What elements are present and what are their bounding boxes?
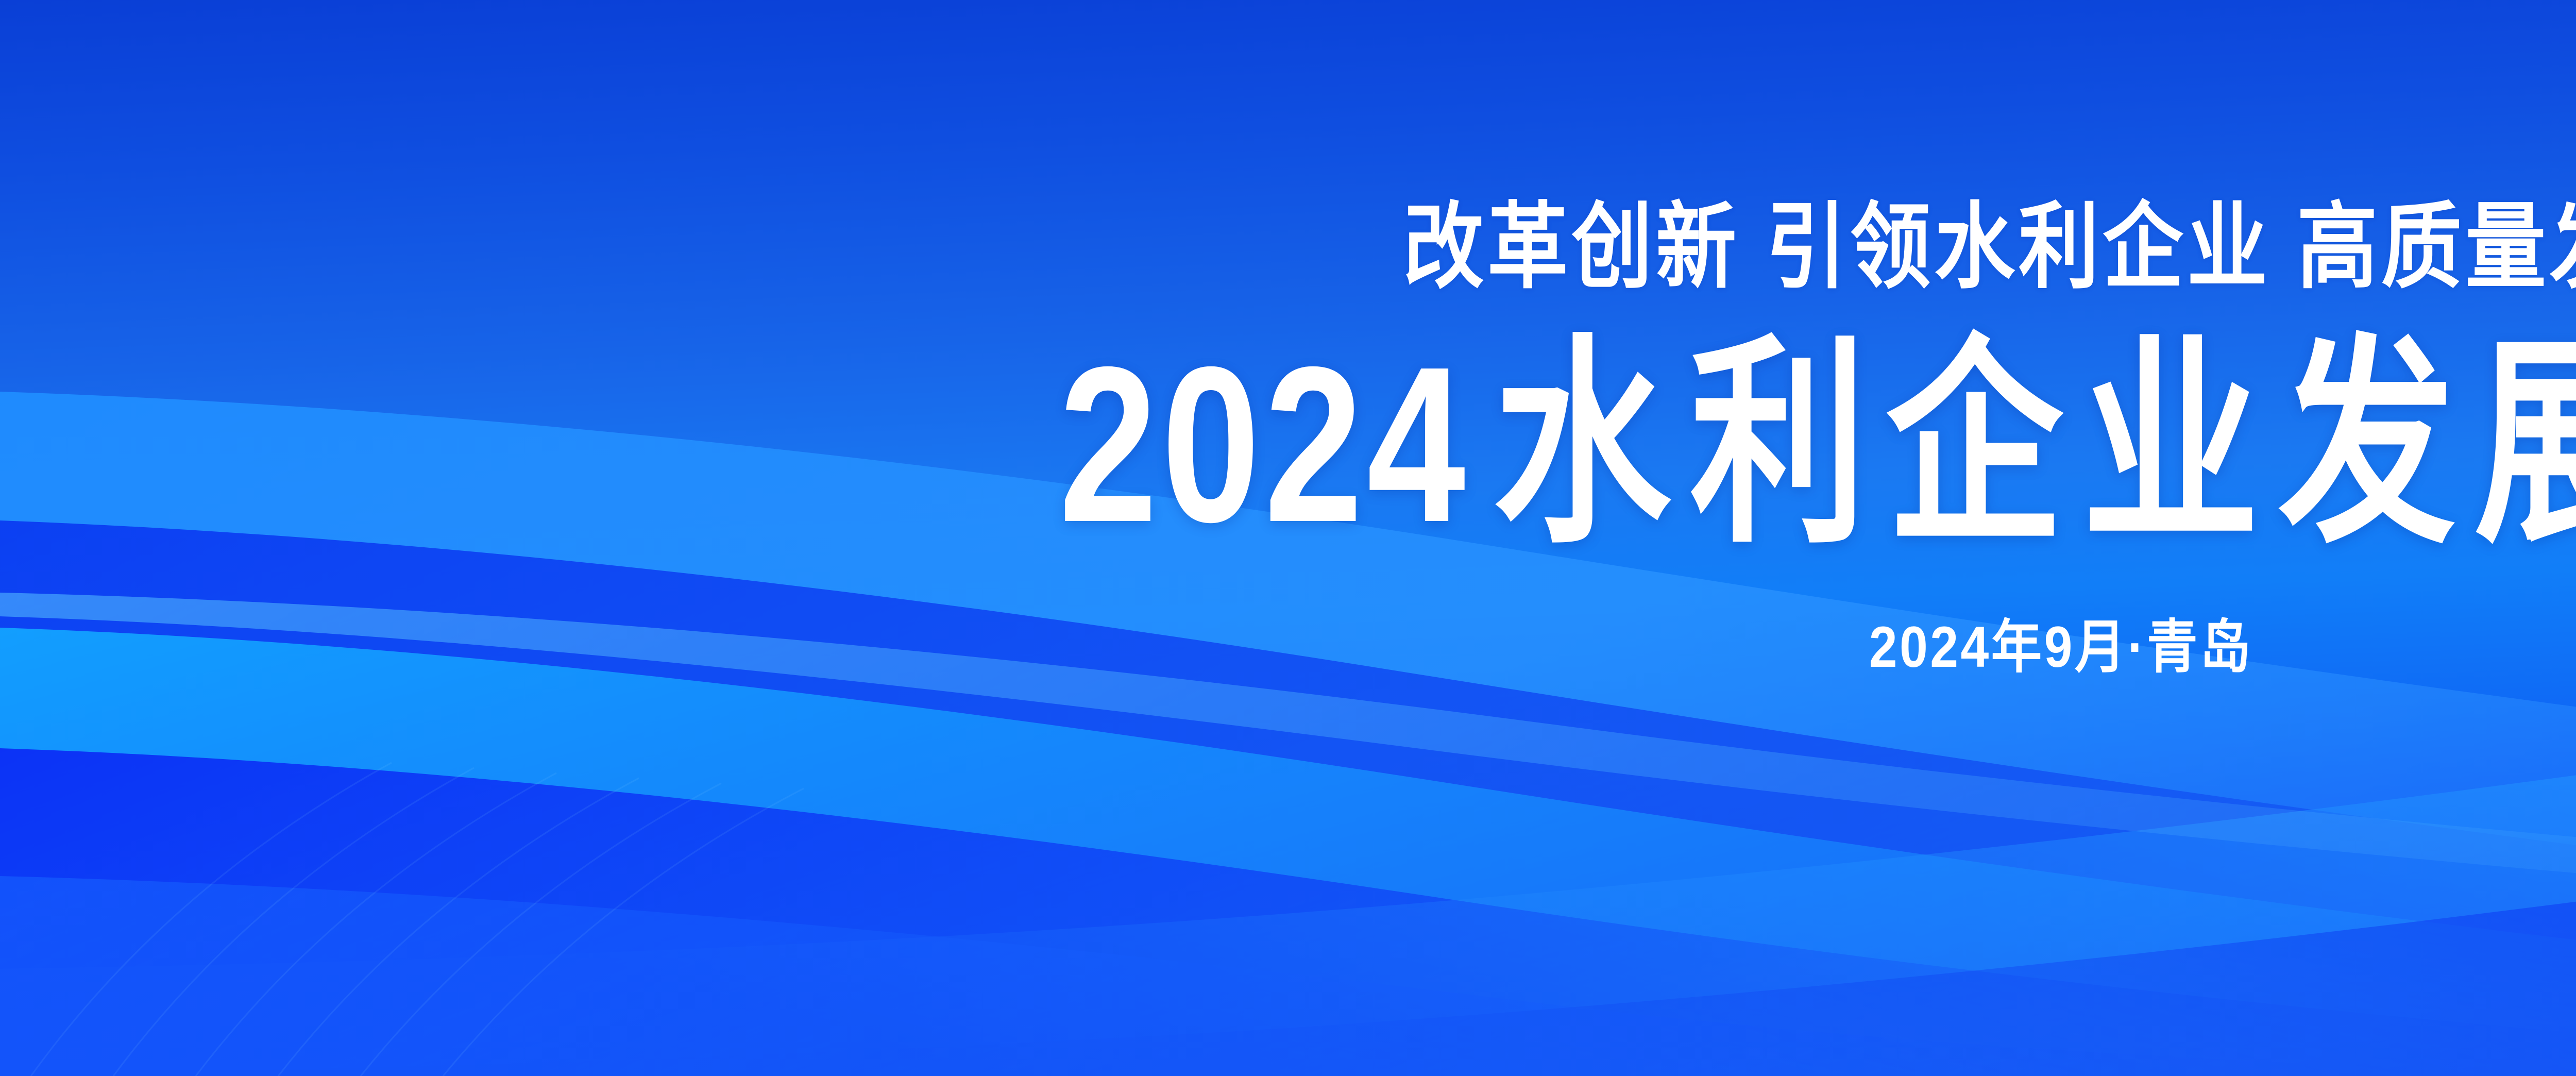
banner-main-title: 2024水利企业发展论坛 (1059, 334, 2576, 556)
banner-content: 改革创新 引领水利企业 高质量发展 2024水利企业发展论坛 2024年9月·青… (0, 0, 2576, 1076)
conference-banner: 改革创新 引领水利企业 高质量发展 2024水利企业发展论坛 2024年9月·青… (0, 0, 2576, 1076)
banner-date-location: 2024年9月·青岛 (1869, 618, 2252, 676)
banner-title-year: 2024 (1059, 321, 1494, 568)
banner-title-text: 水利企业发展论坛 (1494, 321, 2576, 568)
banner-subtitle: 改革创新 引领水利企业 高质量发展 (1403, 200, 2576, 294)
